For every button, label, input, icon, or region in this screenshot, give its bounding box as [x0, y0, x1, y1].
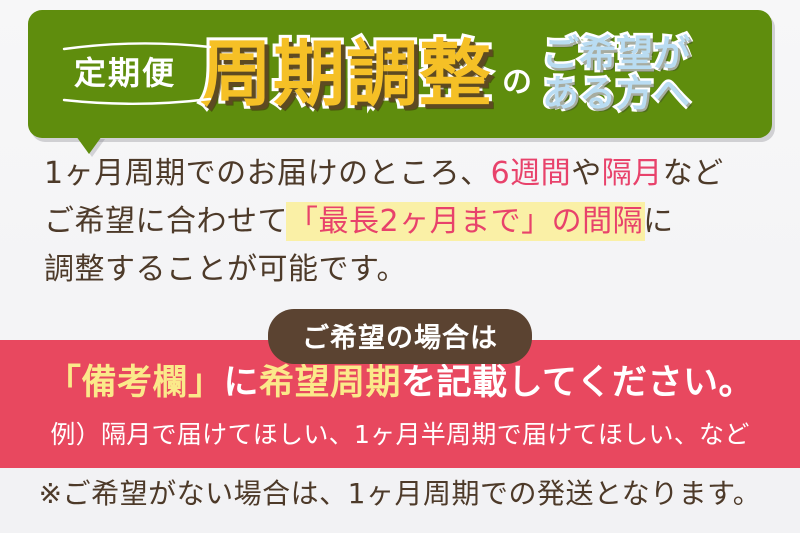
instruction-main-line: 「備考欄」に希望周期を記載してください。: [0, 366, 800, 401]
subscription-badge: 定期便: [68, 43, 182, 105]
swoosh-bottom-icon: [62, 97, 212, 107]
instruction-main-tail: を記載してください。: [401, 363, 754, 403]
header-wish-line-2: ある方へ: [542, 75, 690, 113]
body-line1-accent-6weeks: 6週間: [491, 156, 572, 191]
body-paragraph: 1ヶ月周期でのお届けのところ、6週間や隔月など ご希望に合わせて「最長2ヶ月まで…: [44, 150, 774, 294]
header-particle: の: [502, 68, 532, 98]
header-title: 周期調整: [200, 38, 492, 110]
header-speech-bubble: 定期便 周期調整 の ご希望が ある方へ: [28, 10, 772, 138]
body-line1-text-c: や: [571, 156, 602, 191]
body-line2-text-b: に: [643, 204, 674, 239]
header-content-row: 定期便 周期調整 の ご希望が ある方へ: [28, 10, 772, 138]
body-line2-highlight: 「最長2ヶ月まで」の間隔: [288, 204, 643, 239]
header-wish-block: ご希望が ある方へ: [542, 35, 690, 112]
header-wish-line-1: ご希望が: [542, 35, 690, 73]
bottom-note: ※ご希望がない場合は、1ヶ月周期での発送となります。: [0, 480, 800, 508]
instruction-desired-cycle: 希望周期: [259, 363, 401, 403]
body-line-3: 調整することが可能です。: [44, 246, 774, 294]
request-case-pill: ご希望の場合は: [268, 309, 532, 364]
swoosh-top-icon: [62, 41, 212, 51]
body-line-2: ご希望に合わせて「最長2ヶ月まで」の間隔に: [44, 198, 774, 246]
body-line1-accent-bimonthly: 隔月: [602, 156, 663, 191]
banner-canvas: 定期便 周期調整 の ご希望が ある方へ 1ヶ月周期でのお届けのところ、6週間や…: [0, 0, 800, 533]
instruction-example-line: 例）隔月で届けてほしい、1ヶ月半周期で届けてほしい、など: [0, 422, 800, 447]
body-line1-text-a: 1ヶ月周期でのお届けのところ、: [44, 156, 491, 191]
instruction-remarks-field: 「備考欄」: [46, 363, 224, 403]
body-line2-text-a: ご希望に合わせて: [44, 204, 288, 239]
instruction-particle-ni: に: [224, 363, 260, 403]
body-line1-text-e: など: [663, 156, 724, 191]
subscription-badge-label: 定期便: [74, 54, 176, 92]
body-line-1: 1ヶ月周期でのお届けのところ、6週間や隔月など: [44, 150, 774, 198]
